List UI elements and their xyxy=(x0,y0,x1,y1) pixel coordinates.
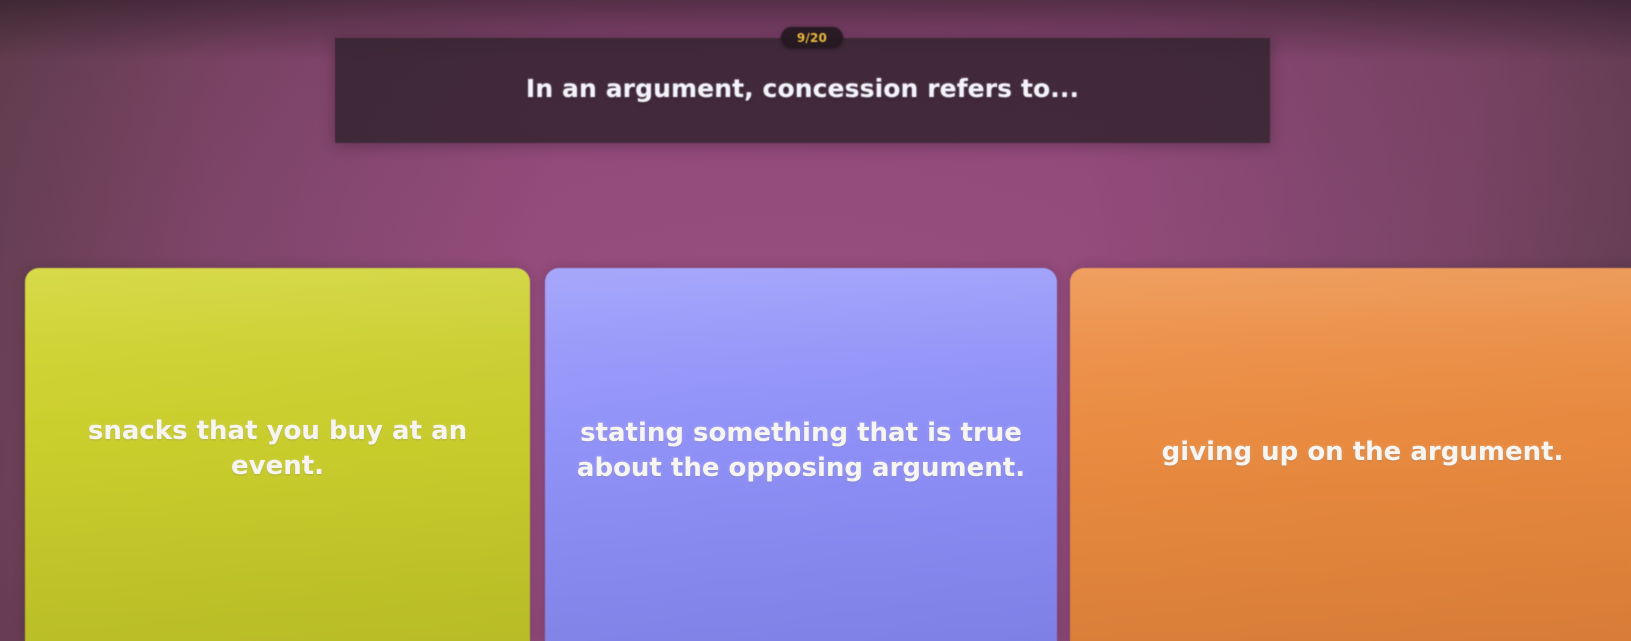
question-panel: In an argument, concession refers to... xyxy=(335,38,1270,143)
question-progress-badge: 9/20 xyxy=(781,27,843,48)
answer-option-a[interactable]: snacks that you buy at an event. xyxy=(25,268,530,641)
answer-option-c-label: giving up on the argument. xyxy=(1140,435,1586,469)
answer-option-c[interactable]: giving up on the argument. xyxy=(1070,268,1631,641)
question-progress-label: 9/20 xyxy=(797,31,827,45)
answer-options-row: snacks that you buy at an event. stating… xyxy=(0,268,1631,641)
answer-option-b[interactable]: stating something that is true about the… xyxy=(545,268,1057,641)
question-text: In an argument, concession refers to... xyxy=(486,74,1119,107)
answer-option-a-label: snacks that you buy at an event. xyxy=(25,414,530,483)
answer-option-b-label: stating something that is true about the… xyxy=(545,416,1057,485)
quiz-screen: In an argument, concession refers to... … xyxy=(0,0,1631,641)
